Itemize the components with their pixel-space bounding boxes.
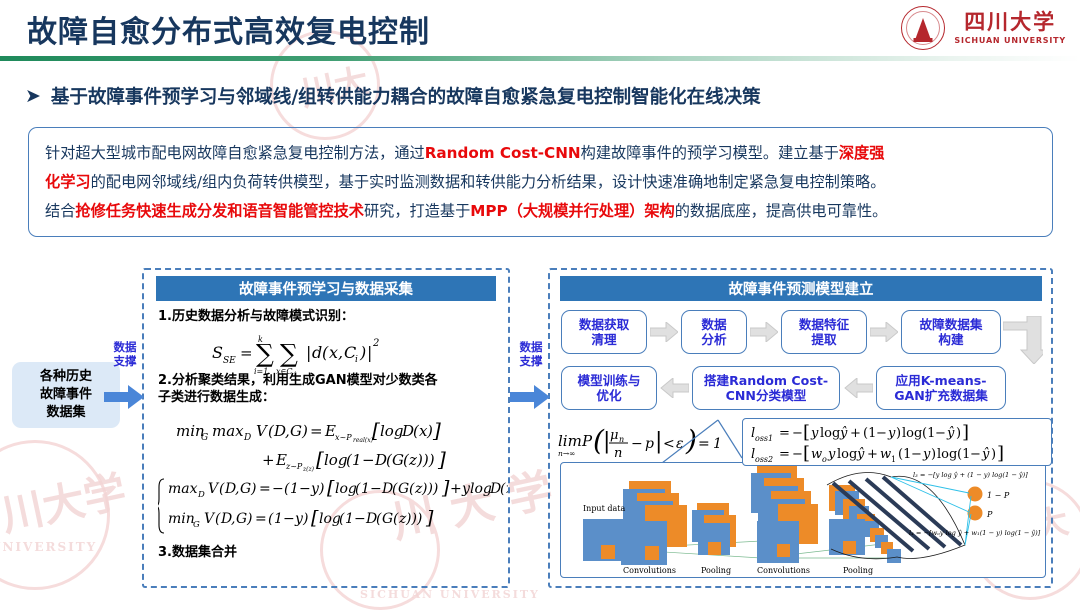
description-highlight: 化学习 — [45, 173, 91, 191]
svg-text:log: log — [470, 481, 492, 497]
svg-text:y: y — [810, 426, 819, 441]
svg-text:): ) — [250, 481, 256, 497]
svg-text:log: log — [902, 426, 922, 441]
left-step-3: 3.数据集合并 — [158, 544, 237, 561]
flow-label-left: 数据支撑 — [108, 340, 142, 368]
svg-text:]: ] — [425, 507, 434, 529]
svg-text:1 − P: 1 − P — [987, 491, 1010, 500]
svg-text:]: ] — [437, 447, 446, 471]
description-text: 构建故障事件的预学习模型。建立基于 — [581, 144, 839, 162]
description-highlight: MPP（大规模并行处理）架构 — [470, 202, 674, 220]
svg-text:−: − — [354, 511, 366, 527]
formula-gan-minmax: min G max D V ( D , G ) = E x~P real(x) … — [176, 415, 506, 475]
svg-text:D: D — [243, 433, 251, 443]
description-text: 针对超大型城市配电网故障自愈紧急复电控制方法，通过 — [45, 144, 425, 162]
svg-text:k: k — [258, 335, 263, 344]
svg-text:=: = — [259, 481, 271, 497]
svg-text:log: log — [837, 447, 857, 462]
university-seal-icon — [901, 6, 945, 50]
svg-text:): ) — [359, 343, 366, 362]
description-line: 针对超大型城市配电网故障自愈紧急复电控制方法，通过Random Cost-CNN… — [45, 139, 1036, 168]
svg-text:x: x — [329, 343, 338, 362]
gray-arrow-right-icon — [650, 322, 678, 342]
logo-name-cn: 四川大学 — [964, 11, 1056, 33]
svg-text:(1: (1 — [957, 447, 970, 462]
svg-text:log: log — [324, 451, 347, 469]
svg-text:oss2: oss2 — [755, 455, 773, 464]
svg-text:w: w — [880, 447, 891, 462]
svg-text:z: z — [408, 451, 417, 469]
description-text: 的配电网邻域线/组内负荷转供模型，基于实时监测数据和转供能力分析结果，设计快速准… — [91, 173, 886, 191]
svg-text:|: | — [306, 343, 311, 362]
svg-text:ŷ: ŷ — [981, 447, 990, 462]
svg-text:(1: (1 — [863, 426, 876, 441]
svg-text:): ) — [426, 422, 433, 440]
svg-text:log: log — [319, 511, 341, 527]
gray-arrow-left-icon — [659, 378, 689, 398]
loss-function-box: l oss1 = − [ y log ŷ + (1 − y ) log (1 −… — [742, 418, 1052, 466]
watermark-ring — [0, 440, 110, 590]
svg-text:(1: (1 — [898, 447, 911, 462]
svg-text:G: G — [193, 520, 200, 530]
svg-text:o: o — [822, 455, 827, 464]
svg-text:G: G — [201, 433, 208, 443]
svg-text:max: max — [212, 422, 244, 440]
university-logo: 四川大学 SICHUAN UNIVERSITY — [901, 4, 1066, 52]
svg-text:))): ))) — [416, 451, 435, 469]
svg-text:=: = — [310, 422, 323, 440]
svg-text:max: max — [168, 481, 198, 497]
svg-text:[: [ — [803, 422, 810, 443]
svg-text:d: d — [312, 343, 322, 362]
svg-text:+: + — [850, 426, 861, 441]
description-text: 研究，打造基于 — [364, 202, 470, 220]
svg-text:1: 1 — [274, 511, 283, 527]
svg-text:−: − — [911, 447, 922, 462]
gray-arrow-elbow-down-icon — [1003, 316, 1043, 364]
svg-text:z~P: z~P — [285, 462, 303, 471]
slide-header: 故障自愈分布式高效复电控制 四川大学 SICHUAN UNIVERSITY — [0, 0, 1080, 62]
svg-text:G: G — [240, 481, 251, 497]
svg-text:log: log — [820, 426, 840, 441]
svg-text:z(z): z(z) — [302, 466, 315, 473]
svg-text:ŷ: ŷ — [839, 426, 848, 441]
formula-sse: S SE = ∑ k i=1 ∑ x∈C i | d ( x , C i ) |… — [212, 328, 432, 376]
section-heading-text: 基于故障事件预学习与邻域线/组转供能力耦合的故障自愈紧急复电控制智能化在线决策 — [51, 83, 761, 109]
svg-text:−: − — [362, 451, 375, 469]
svg-text:[: [ — [311, 507, 319, 529]
flow-box-kmeans-gan[interactable]: 应用K-means-GAN扩充数据集 — [876, 366, 1006, 410]
description-box: 针对超大型城市配电网故障自愈紧急复电控制方法，通过Random Cost-CNN… — [28, 127, 1053, 237]
svg-text:SE: SE — [223, 356, 236, 366]
svg-text:): ) — [931, 447, 936, 462]
formula-gan-system: max D V ( D , G ) = − ( 1 − y ) [ log ( … — [158, 475, 508, 537]
description-text: 结合 — [45, 202, 75, 220]
source-dataset-line: 数据集 — [46, 404, 85, 422]
svg-text:y: y — [922, 447, 931, 462]
svg-text:D: D — [197, 490, 205, 500]
svg-text:[: [ — [803, 443, 810, 464]
blue-arrow-right-icon — [510, 385, 550, 409]
svg-text:−: − — [792, 426, 803, 441]
description-text: 的数据底座，提高供电可靠性。 — [675, 202, 888, 220]
svg-text:): ) — [896, 426, 901, 441]
flow-box-random-cost-cnn[interactable]: 搭建Random Cost-CNN分类模型 — [692, 366, 840, 410]
cnn-svg: 1 − P P l₃ = −[y log ŷ + (1 − y) log(1 −… — [561, 463, 1045, 577]
logo-name-en: SICHUAN UNIVERSITY — [954, 36, 1066, 45]
svg-text:1: 1 — [352, 451, 362, 469]
svg-text:oss1: oss1 — [755, 434, 773, 443]
cnn-label-conv2: Convolutions — [757, 566, 810, 575]
cnn-label-pool1: Pooling — [701, 566, 731, 575]
flow-label-right: 数据支撑 — [514, 340, 548, 368]
flow-box-fault-dataset-build[interactable]: 故障数据集构建 — [901, 310, 1001, 354]
svg-text:S: S — [212, 343, 223, 362]
svg-text:(1: (1 — [922, 426, 935, 441]
svg-text:1: 1 — [345, 511, 354, 527]
svg-text:−: − — [299, 481, 311, 497]
svg-text:−: − — [792, 447, 803, 462]
title-divider-rule — [0, 56, 1080, 61]
svg-text:y: y — [887, 426, 896, 441]
svg-text:=: = — [779, 426, 790, 441]
svg-text:[: [ — [372, 418, 380, 442]
formula-loss-functions: l oss1 = − [ y log ŷ + (1 − y ) log (1 −… — [743, 419, 1051, 465]
svg-text:real(x): real(x) — [353, 437, 374, 444]
svg-text:log: log — [335, 481, 357, 497]
svg-text:G: G — [382, 511, 393, 527]
left-step-1: 1.历史数据分析与故障模式识别： — [158, 308, 354, 325]
svg-text:l₃ = −[y log ŷ + (1 − y) log(1: l₃ = −[y log ŷ + (1 − y) log(1 − ŷ)] — [913, 471, 1028, 479]
svg-text:i: i — [355, 355, 358, 365]
gray-arrow-right-icon — [750, 322, 778, 342]
flow-box-data-acquisition[interactable]: 数据获取清理 — [561, 310, 647, 354]
svg-text:]: ] — [962, 422, 969, 443]
svg-text:x: x — [506, 481, 508, 497]
svg-text:−: − — [370, 481, 382, 497]
svg-text:∑: ∑ — [280, 339, 298, 368]
svg-text:]: ] — [997, 443, 1004, 464]
svg-text:))): ))) — [421, 481, 438, 497]
description-highlight: 抢修任务快速生成分发和语音智能管控技术 — [75, 202, 364, 220]
svg-text:−: − — [272, 481, 284, 497]
svg-text:min: min — [168, 511, 195, 527]
svg-text:lim: lim — [558, 432, 582, 450]
svg-text:P: P — [986, 510, 993, 519]
source-dataset-line: 故障事件 — [40, 386, 92, 404]
svg-text:): ) — [301, 422, 308, 440]
svg-text:]: ] — [432, 418, 441, 442]
left-step-2-line1: 2.分析聚类结果，利用生成GAN模型对少数类各 — [158, 372, 438, 389]
svg-text:y: y — [827, 447, 836, 462]
svg-text:): ) — [246, 511, 252, 527]
svg-text:1: 1 — [891, 455, 896, 464]
svg-text:+: + — [450, 481, 462, 497]
svg-text:−: − — [876, 426, 887, 441]
svg-text:=: = — [255, 511, 267, 527]
svg-text:−: − — [935, 426, 946, 441]
svg-text:,: , — [235, 481, 239, 497]
page-title: 故障自愈分布式高效复电控制 — [27, 7, 430, 51]
svg-text:−: − — [283, 511, 295, 527]
svg-text:): ) — [956, 426, 961, 441]
svg-text:))): ))) — [405, 511, 422, 527]
svg-text:2: 2 — [372, 338, 379, 349]
svg-text:1: 1 — [361, 481, 370, 497]
triangle-bullet-icon: ➤ — [25, 87, 41, 106]
svg-text:,: , — [338, 343, 343, 362]
flow-box-feature-extraction[interactable]: 数据特征提取 — [781, 310, 867, 354]
svg-text:−: − — [970, 447, 981, 462]
svg-text:G: G — [398, 481, 409, 497]
gray-arrow-left-icon — [843, 378, 873, 398]
description-highlight: 深度强 — [839, 144, 885, 162]
svg-text:x~P: x~P — [335, 433, 352, 442]
section-heading: ➤ 基于故障事件预学习与邻域线/组转供能力耦合的故障自愈紧急复电控制智能化在线决… — [25, 83, 761, 109]
svg-text:(: ( — [322, 343, 329, 362]
svg-text:+: + — [262, 451, 275, 469]
svg-text:n→∞: n→∞ — [558, 449, 575, 458]
svg-text:log: log — [937, 447, 957, 462]
left-step-2-line2: 子类进行数据生成： — [158, 389, 275, 406]
description-line: 化学习的配电网邻域线/组内负荷转供模型，基于实时监测数据和转供能力分析结果，设计… — [45, 168, 1036, 197]
svg-text:G: G — [290, 422, 302, 440]
flow-box-data-analysis[interactable]: 数据分析 — [681, 310, 747, 354]
svg-text:G: G — [236, 511, 247, 527]
svg-text:ŷ: ŷ — [856, 447, 865, 462]
cnn-architecture-diagram: 1 − P P l₃ = −[y log ŷ + (1 − y) log(1 −… — [560, 462, 1046, 578]
blue-arrow-right-icon — [104, 385, 144, 409]
description-line: 结合抢修任务快速生成分发和语音智能管控技术研究，打造基于MPP（大规模并行处理）… — [45, 197, 1036, 226]
svg-text:): ) — [302, 511, 308, 527]
svg-text:[: [ — [327, 477, 335, 499]
svg-text:): ) — [991, 447, 996, 462]
svg-text:[: [ — [316, 447, 324, 471]
flow-box-model-training[interactable]: 模型训练与优化 — [561, 366, 657, 410]
description-highlight: Random Cost-CNN — [425, 144, 581, 162]
cnn-label-conv1: Convolutions — [623, 566, 676, 575]
svg-text:=: = — [779, 447, 790, 462]
svg-text:): ) — [318, 481, 324, 497]
svg-text:|: | — [367, 343, 372, 362]
svg-text:]: ] — [441, 477, 450, 499]
svg-text:ŷ: ŷ — [946, 426, 955, 441]
svg-text:1: 1 — [290, 481, 299, 497]
svg-text:=: = — [240, 344, 253, 362]
svg-text:log: log — [380, 422, 403, 440]
svg-text:l₄ = −[wₒy log ŷ + w₁(1 − y) l: l₄ = −[wₒy log ŷ + w₁(1 − y) log(1 − ŷ)] — [909, 529, 1041, 537]
source-dataset-line: 各种历史 — [40, 368, 92, 386]
svg-text:,: , — [231, 511, 235, 527]
gray-arrow-right-icon — [870, 322, 898, 342]
cnn-label-input: Input data — [583, 504, 625, 513]
svg-text:w: w — [811, 447, 822, 462]
cnn-label-pool2: Pooling — [843, 566, 873, 575]
svg-text:P: P — [581, 432, 593, 450]
svg-text:+: + — [867, 447, 878, 462]
